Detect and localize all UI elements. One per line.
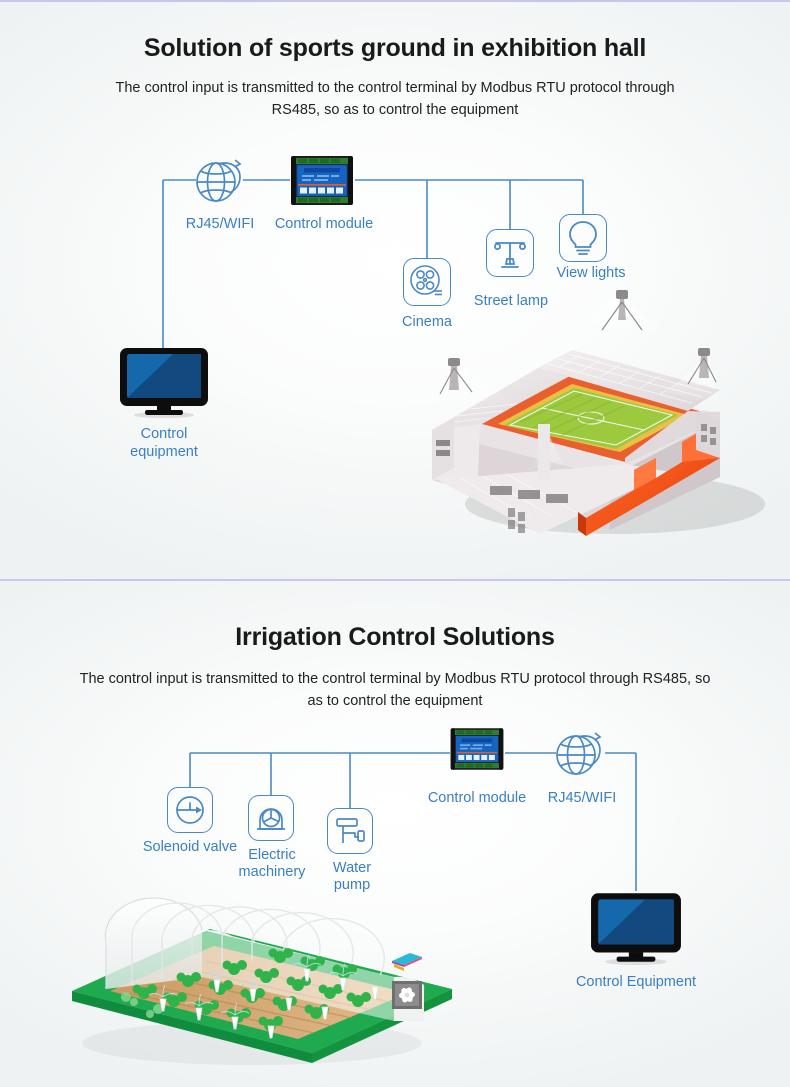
globe-icon xyxy=(195,155,244,205)
node-label-control-module: Control module xyxy=(263,216,385,232)
monitor-icon-2 xyxy=(589,891,683,965)
node-label-control-equipment-2: Control Equipment xyxy=(546,974,726,990)
electric-machinery-text: Electric machinery xyxy=(239,847,306,880)
electric-motor-icon xyxy=(248,795,294,841)
node-label-rj45-wifi: RJ45/WIFI xyxy=(166,216,274,232)
control-module-device xyxy=(289,154,355,207)
monitor-icon xyxy=(118,346,210,418)
section-irrigation: Irrigation Control Solutions The control… xyxy=(0,579,790,1087)
control-equipment-text: Control equipment xyxy=(130,426,198,460)
globe-icon-2 xyxy=(555,728,604,778)
node-label-rj45-wifi-2: RJ45/WIFI xyxy=(528,790,636,806)
street-lamp-icon xyxy=(486,229,534,277)
stadium-illustration xyxy=(420,272,780,537)
control-module-device-2 xyxy=(449,726,505,772)
section-sports-ground: Solution of sports ground in exhibition … xyxy=(0,0,790,579)
node-label-electric-machinery: Electric machinery xyxy=(222,847,322,882)
node-label-control-equipment: Control equipment xyxy=(108,425,220,461)
water-pump-icon xyxy=(327,808,373,854)
page-root: Solution of sports ground in exhibition … xyxy=(0,0,790,1087)
solenoid-valve-icon xyxy=(167,787,213,833)
light-bulb-icon xyxy=(559,214,607,262)
greenhouse-illustration xyxy=(62,881,462,1066)
node-label-control-module-2: Control module xyxy=(416,790,538,806)
